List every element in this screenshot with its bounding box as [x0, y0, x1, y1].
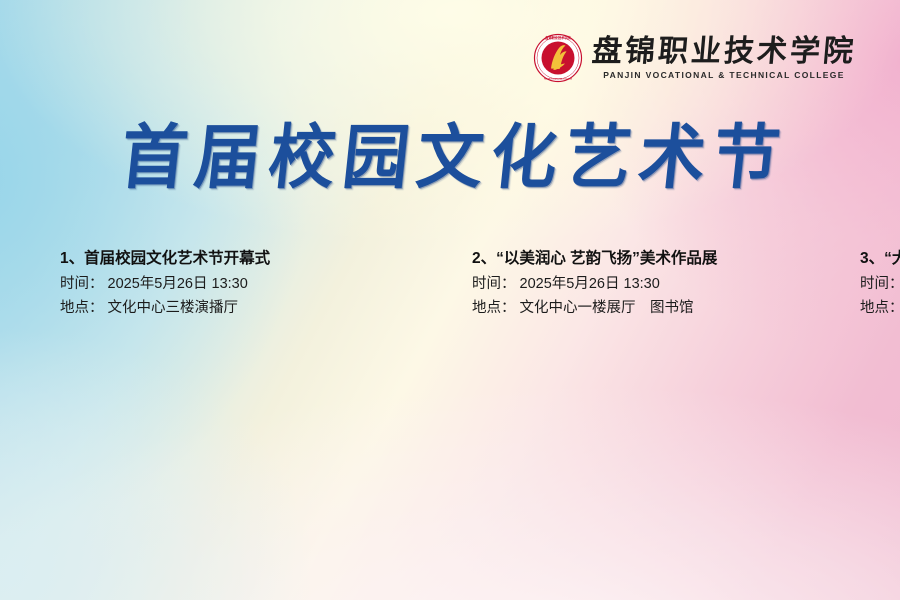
program-place: 地点： 文化中心一楼展厅 图书馆 — [472, 297, 860, 320]
program-item-3: 3、“大美国医 唯爱传承”中医文化义诊 时间： 2025年5月26日 13:30… — [860, 250, 900, 345]
program-place: 地点： 博爱楼二楼展廊 — [860, 297, 900, 320]
institution-name-group: 盘锦职业技术学院 PANJIN VOCATIONAL & TECHNICAL C… — [592, 36, 856, 80]
program-title: 1、首届校园文化艺术节开幕式 — [60, 250, 472, 268]
institution-logo-block: 盘锦职业技术学院 PANJIN VOCATIONAL COLLEGE 盘锦职业技… — [533, 33, 856, 83]
svg-text:盘锦职业技术学院: 盘锦职业技术学院 — [545, 35, 571, 40]
poster-canvas: 盘锦职业技术学院 PANJIN VOCATIONAL COLLEGE 盘锦职业技… — [0, 0, 900, 600]
page-title: 首届校园文化艺术节 — [0, 124, 900, 194]
program-place: 地点： 文化中心三楼演播厅 — [60, 297, 472, 320]
program-title: 3、“大美国医 唯爱传承”中医文化义诊 — [860, 250, 900, 268]
panjin-college-seal-icon: 盘锦职业技术学院 PANJIN VOCATIONAL COLLEGE — [533, 33, 583, 83]
institution-name-en: PANJIN VOCATIONAL & TECHNICAL COLLEGE — [592, 70, 856, 80]
program-list: 1、首届校园文化艺术节开幕式 时间： 2025年5月26日 13:30 地点： … — [60, 250, 860, 345]
program-title: 2、“以美润心 艺韵飞扬”美术作品展 — [472, 250, 860, 268]
program-item-2: 2、“以美润心 艺韵飞扬”美术作品展 时间： 2025年5月26日 13:30 … — [472, 250, 860, 345]
program-time: 时间： 2025年5月26日 13:30 — [60, 273, 472, 296]
program-time: 时间： 2025年5月26日 13:30 — [860, 273, 900, 296]
program-item-1: 1、首届校园文化艺术节开幕式 时间： 2025年5月26日 13:30 地点： … — [60, 250, 472, 345]
institution-name-cn: 盘锦职业技术学院 — [591, 36, 858, 68]
program-time: 时间： 2025年5月26日 13:30 — [472, 273, 860, 296]
